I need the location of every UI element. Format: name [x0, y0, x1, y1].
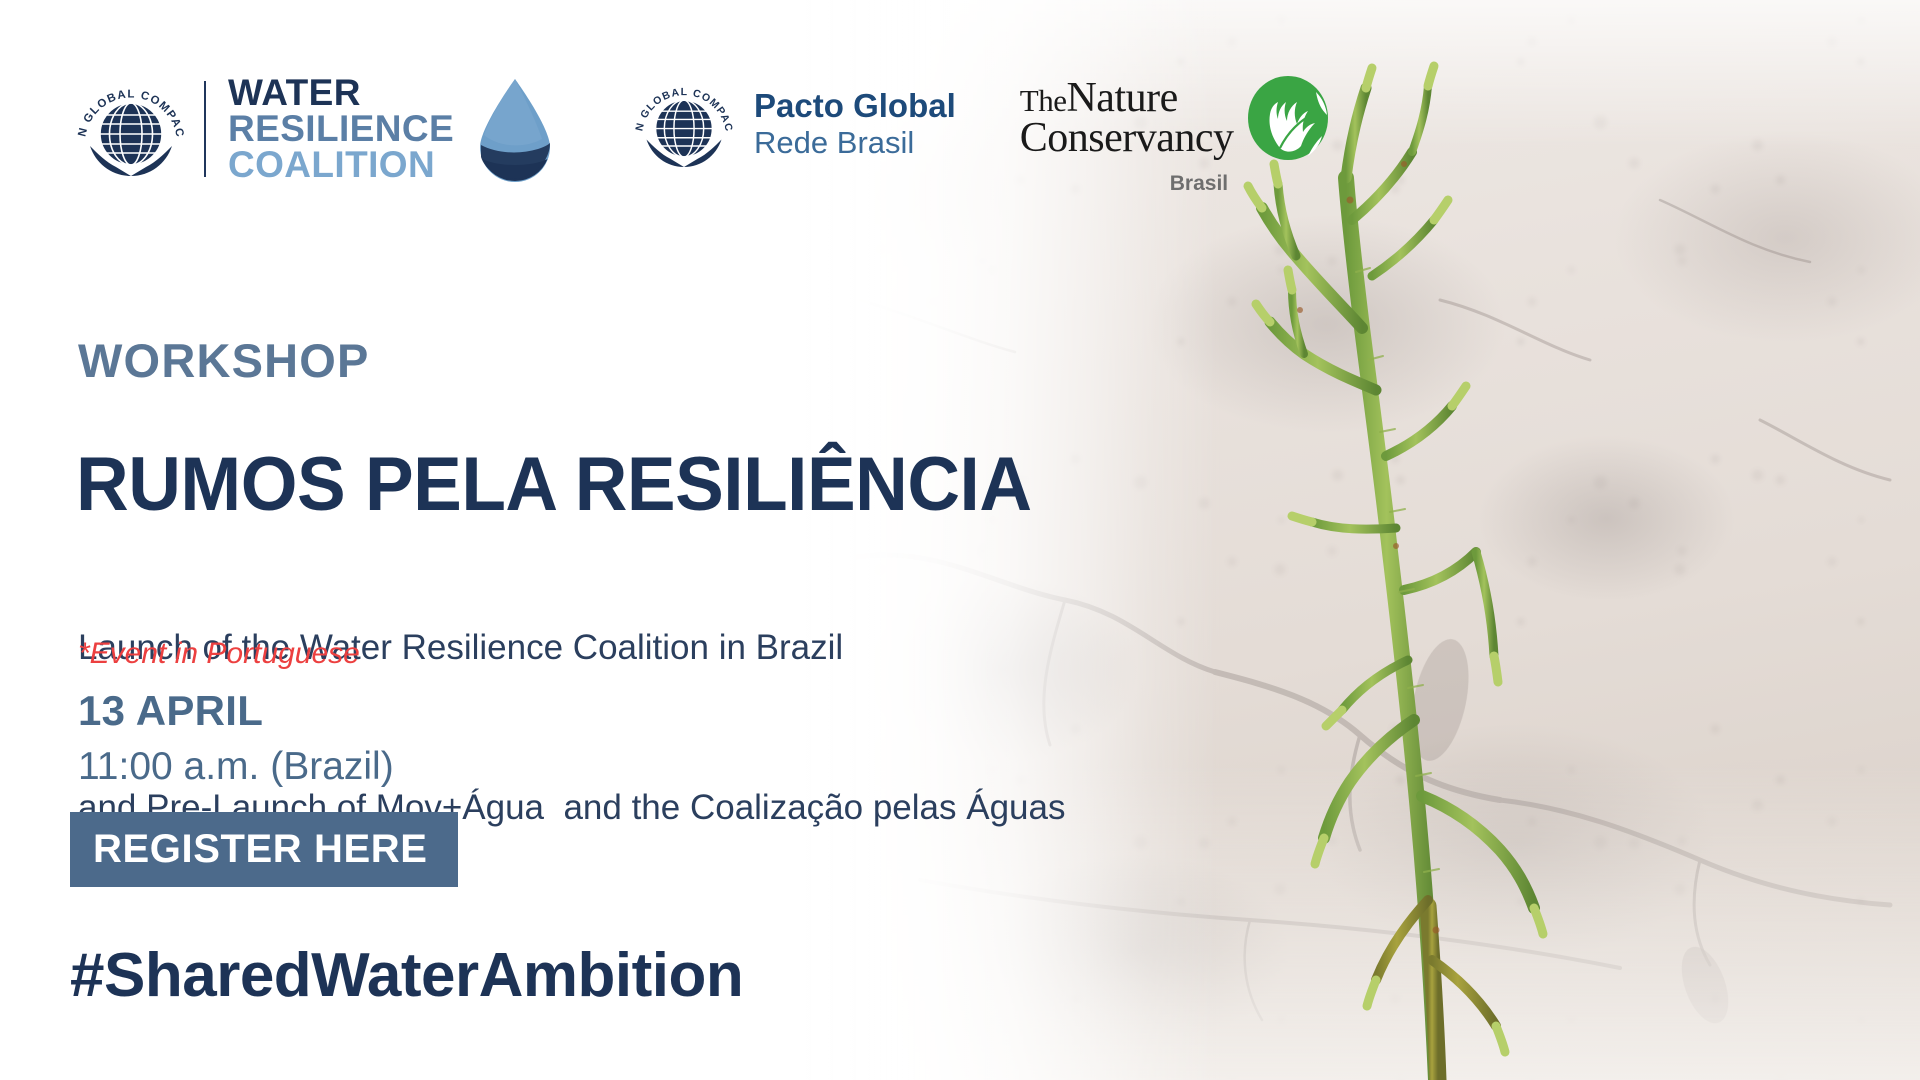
- tnc-line-2: Conservancy: [1020, 118, 1234, 158]
- register-here-button[interactable]: REGISTER HERE: [70, 812, 458, 887]
- eyebrow-label: WORKSHOP: [78, 333, 370, 388]
- tnc-wordmark: TheNature Conservancy: [1020, 78, 1234, 159]
- banner-content: UN GLOBAL COMPACT: [0, 0, 1920, 1080]
- tnc-the: The: [1020, 83, 1067, 118]
- wrc-line-2: RESILIENCE: [228, 111, 454, 147]
- pacto-line-2: Rede Brasil: [754, 125, 956, 161]
- event-time: 11:00 a.m. (Brazil): [78, 745, 394, 789]
- wrc-line-1: WATER: [228, 75, 454, 111]
- green-globe-leaf-icon: [1246, 74, 1330, 162]
- pacto-line-1: Pacto Global: [754, 87, 956, 125]
- logo-water-resilience-coalition: UN GLOBAL COMPACT: [72, 70, 558, 188]
- event-date: 13 APRIL: [78, 687, 263, 735]
- wrc-line-3: COALITION: [228, 147, 454, 183]
- wrc-wordmark: WATER RESILIENCE COALITION: [228, 75, 454, 183]
- logo-nature-conservancy: TheNature Conservancy Brasil: [1020, 70, 1330, 196]
- water-drop-icon: [472, 75, 558, 183]
- pacto-wordmark: Pacto Global Rede Brasil: [754, 87, 956, 161]
- logo-pacto-global: UN GLOBAL COMPACT: [630, 70, 956, 178]
- event-banner: UN GLOBAL COMPACT: [0, 0, 1920, 1080]
- campaign-hashtag: #SharedWaterAmbition: [70, 940, 743, 1011]
- tnc-line-1: TheNature: [1020, 78, 1234, 118]
- un-global-compact-emblem-icon: UN GLOBAL COMPACT: [630, 70, 738, 178]
- partner-logo-row: UN GLOBAL COMPACT: [72, 70, 1330, 196]
- tnc-nature: Nature: [1066, 75, 1177, 121]
- language-note: *Event in Portuguese: [78, 637, 360, 671]
- un-global-compact-emblem-icon: UN GLOBAL COMPACT: [72, 70, 190, 188]
- logo-divider: [204, 81, 206, 177]
- tnc-subtitle: Brasil: [1170, 172, 1330, 196]
- tnc-main-row: TheNature Conservancy: [1020, 74, 1330, 162]
